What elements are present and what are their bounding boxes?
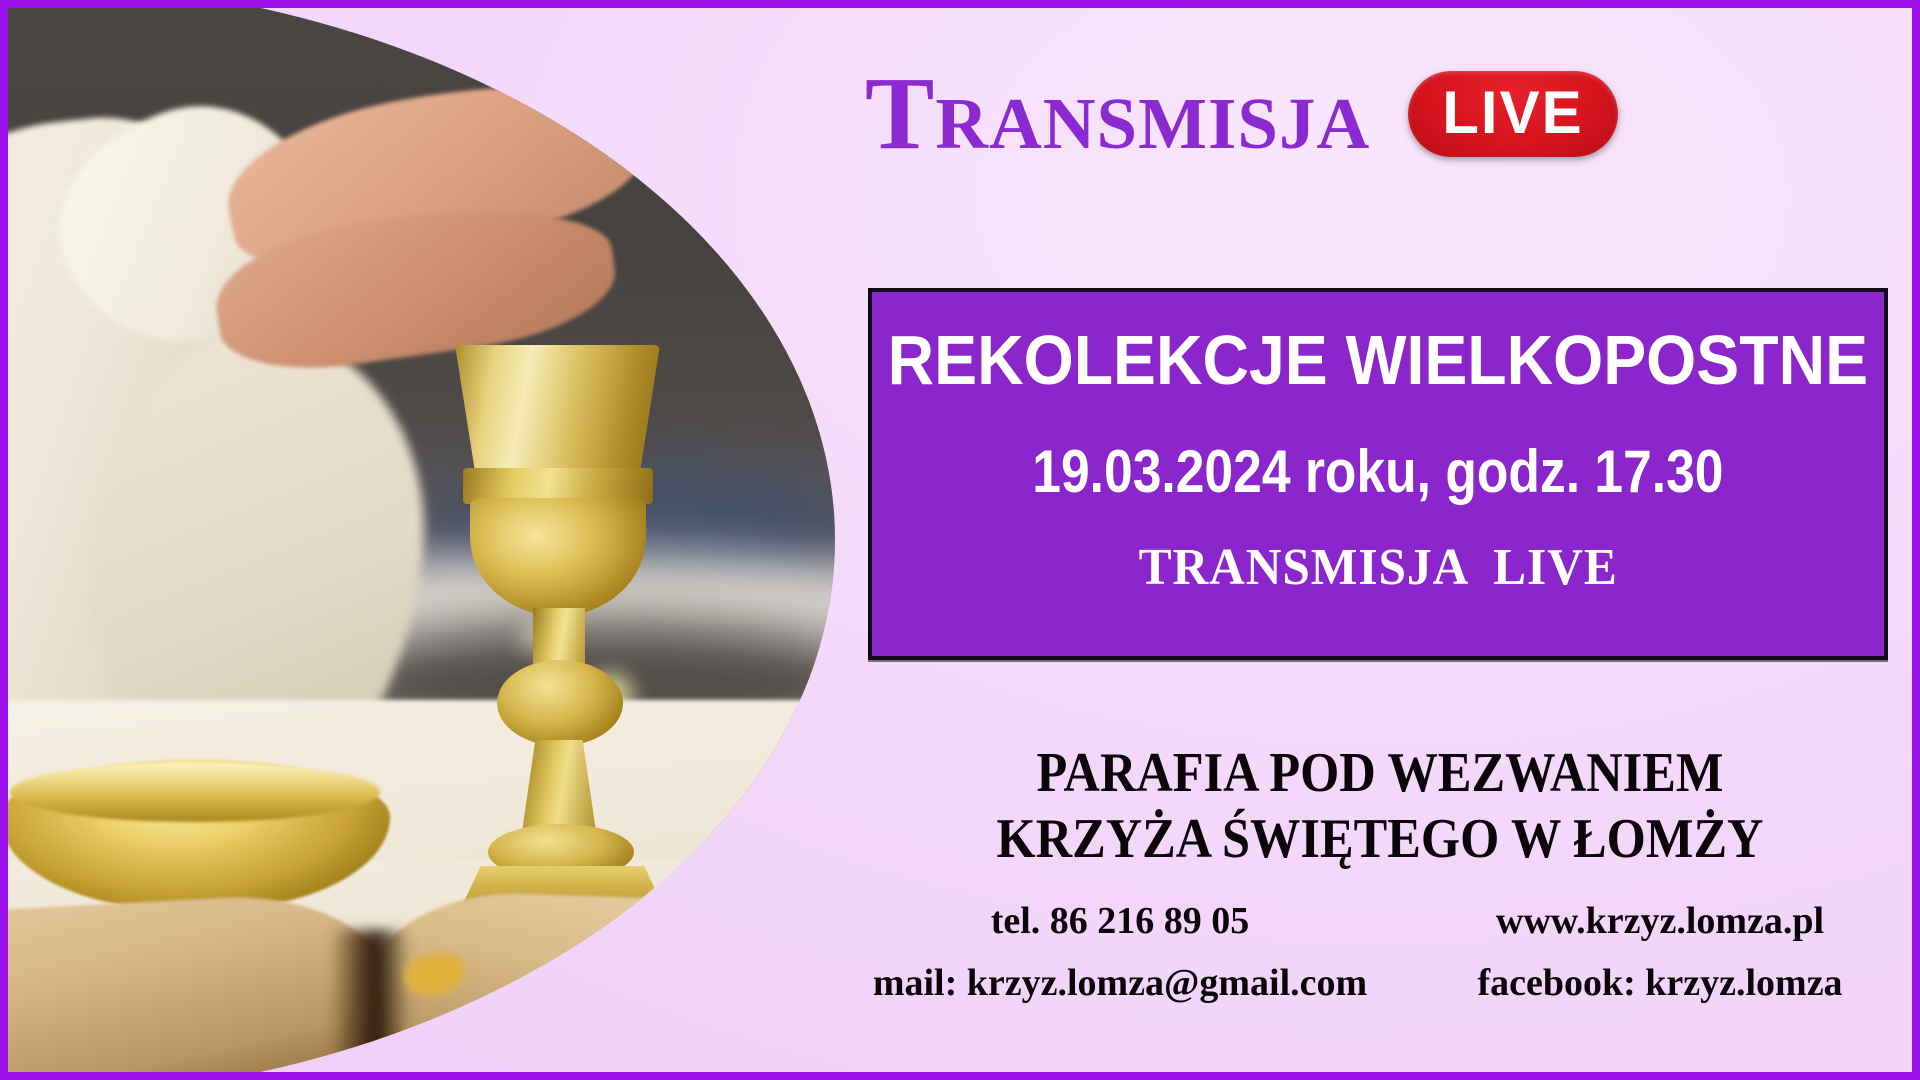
contact-facebook[interactable]: facebook: krzyz.lomza [1400,964,1920,1002]
announcement-banner: REKOLEKCJE WIELKOPOSTNE 19.03.2024 roku,… [868,288,1888,660]
chalice-knop-node [497,660,623,746]
parish-name: PARAFIA POD WEZWANIEM KRZYŻA ŚWIĘTEGO W … [840,740,1920,872]
banner-headline: REKOLEKCJE WIELKOPOSTNE [888,324,1868,398]
chalice-stem-upper [533,608,585,668]
chalice-bowl [455,345,660,475]
poster-root: Transmisja LIVE REKOLEKCJE WIELKOPOSTNE … [0,0,1920,1080]
header-row: Transmisja LIVE [865,62,1895,166]
page-title: Transmisja [865,62,1370,166]
golden-paten-rim [10,762,380,822]
live-badge-label: LIVE [1442,83,1583,143]
live-badge: LIVE [1408,71,1617,157]
contact-row-secondary: mail: krzyz.lomza@gmail.com facebook: kr… [840,952,1920,1014]
contact-website[interactable]: www.krzyz.lomza.pl [1400,902,1920,940]
contact-info: tel. 86 216 89 05 www.krzyz.lomza.pl mai… [840,890,1920,1014]
banner-date: 19.03.2024 roku, godz. 17.30 [1032,440,1723,503]
parish-name-line-2: KRZYŻA ŚWIĘTEGO W ŁOMŻY [894,806,1866,872]
content-column: Transmisja LIVE REKOLEKCJE WIELKOPOSTNE … [840,0,1920,1080]
contact-email[interactable]: mail: krzyz.lomza@gmail.com [840,964,1400,1002]
contact-phone: tel. 86 216 89 05 [840,902,1400,940]
banner-subtitle: TRANSMISJA LIVE [1138,541,1617,596]
parish-name-line-1: PARAFIA POD WEZWANIEM [894,740,1866,806]
contact-row-primary: tel. 86 216 89 05 www.krzyz.lomza.pl [840,890,1920,952]
